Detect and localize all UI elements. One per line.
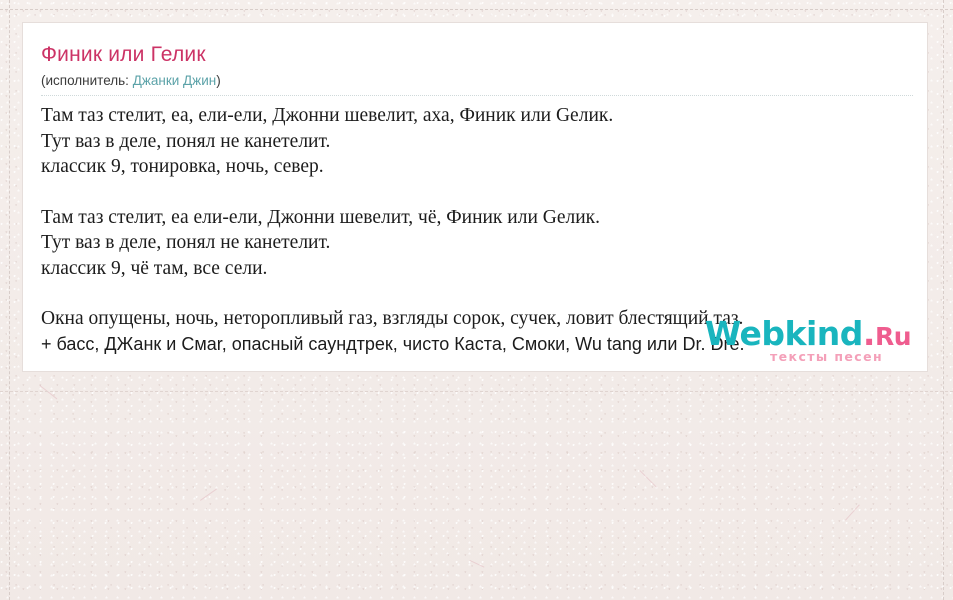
watermark-logo: Webkind.Ru тексты песен [705, 317, 911, 364]
header-divider [41, 95, 913, 96]
page-guide-right [943, 0, 944, 600]
watermark-dot: . [863, 314, 875, 353]
page-guide-left [9, 0, 10, 600]
lyric-line: Там таз стелит, еа ели-ели, Джонни шевел… [41, 205, 921, 231]
artist-link[interactable]: Джанки Джин [133, 73, 217, 88]
lyric-line: Тут ваз в деле, понял не канетелит. [41, 129, 921, 155]
lyric-line: классик 9, тонировка, ночь, север. [41, 154, 921, 180]
lyric-verse: Там таз стелит, еа ели-ели, Джонни шевел… [41, 205, 921, 282]
lyrics-card: Финик или Гелик (исполнитель: Джанки Джи… [22, 22, 928, 372]
artist-suffix-label: ) [216, 73, 221, 88]
watermark-tld: Ru [875, 322, 911, 351]
artist-line: (исполнитель: Джанки Джин) [41, 73, 221, 88]
watermark-name: Webkind [705, 314, 863, 353]
watermark-wordmark: Webkind.Ru [705, 317, 911, 350]
lyric-line: Там таз стелит, еа, ели-ели, Джонни шеве… [41, 103, 921, 129]
artist-prefix-label: (исполнитель: [41, 73, 133, 88]
page-guide-middle [0, 391, 953, 392]
lyric-line: Тут ваз в деле, понял не канетелит. [41, 230, 921, 256]
page-title: Финик или Гелик [41, 43, 206, 67]
page-guide-top [0, 9, 953, 10]
lyric-verse: Там таз стелит, еа, ели-ели, Джонни шеве… [41, 103, 921, 180]
lyric-line: классик 9, чё там, все сели. [41, 256, 921, 282]
